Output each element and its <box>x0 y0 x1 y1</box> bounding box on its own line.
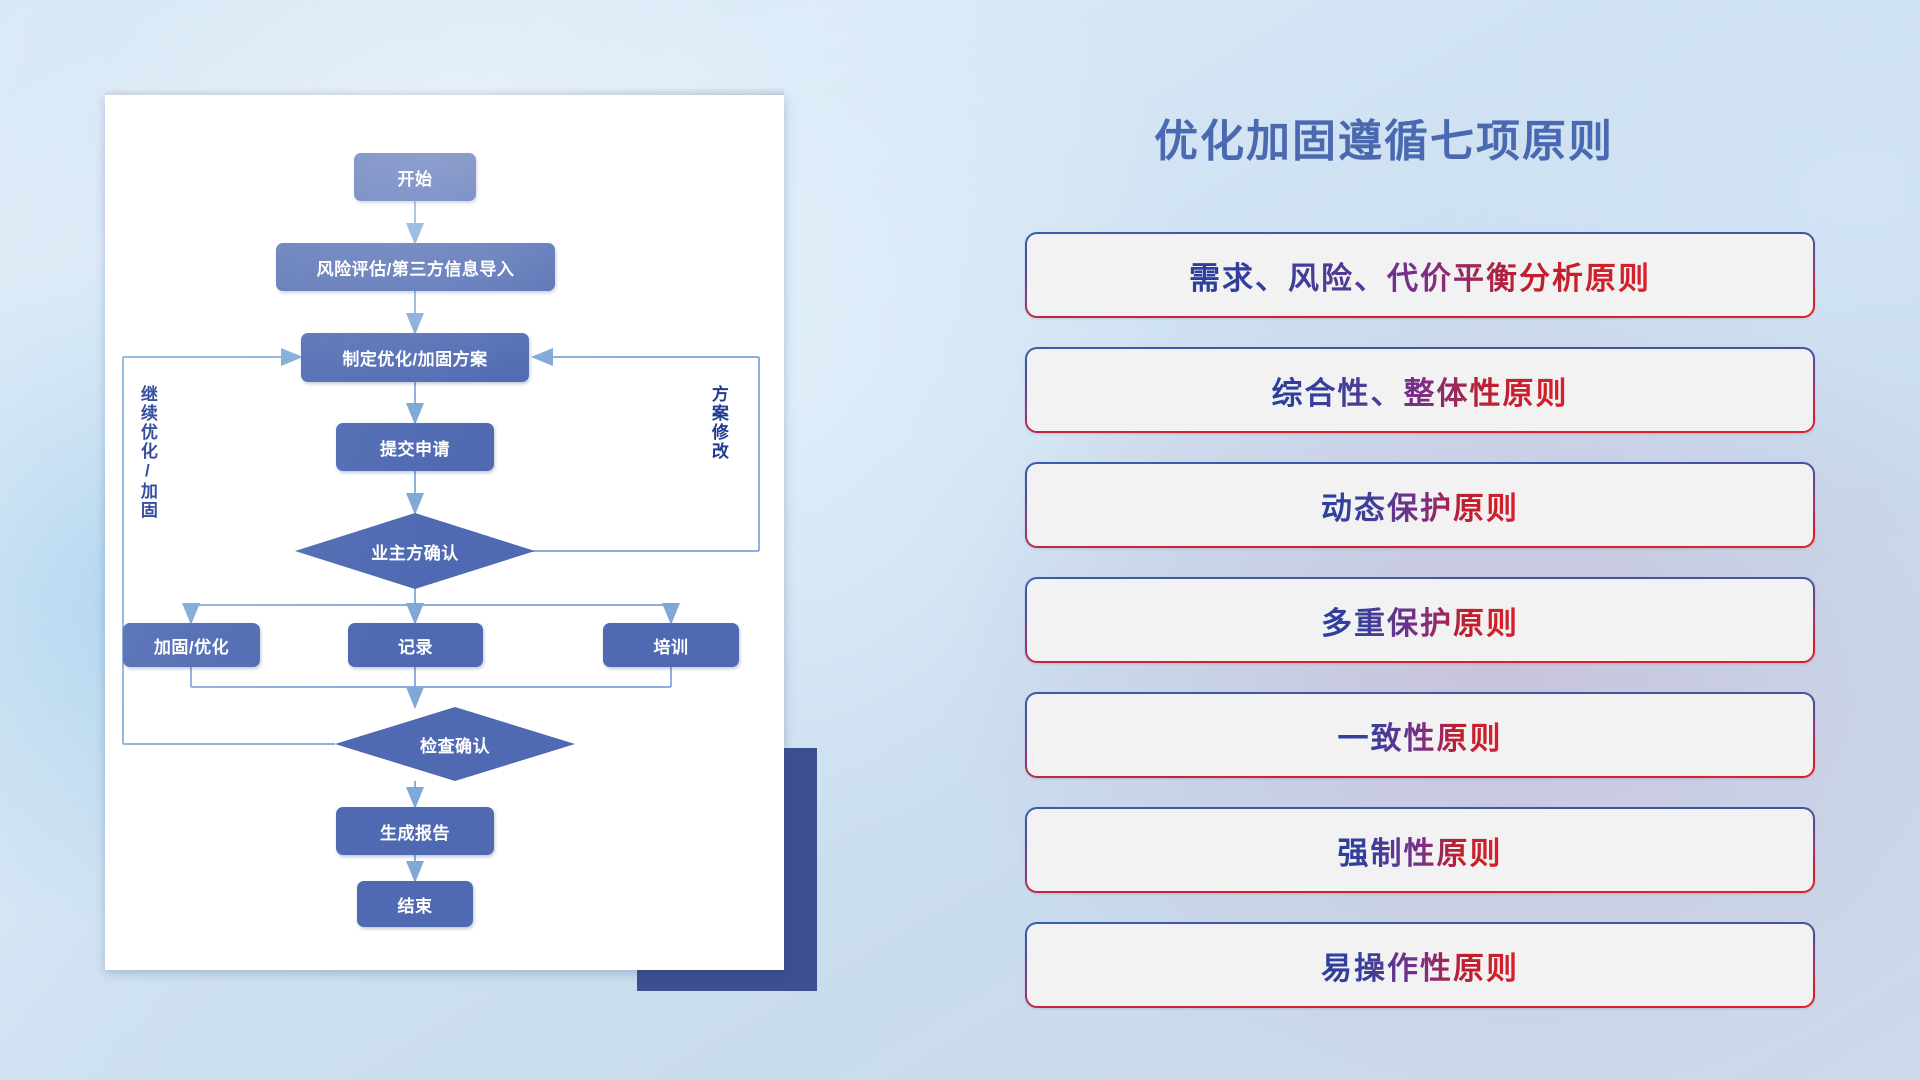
principle-label: 易操作性原则 <box>1321 943 1519 988</box>
flow-node-label: 业主方确认 <box>371 539 459 564</box>
principle-item[interactable]: 易操作性原则 <box>1025 922 1815 1008</box>
flow-node-label: 结束 <box>398 892 433 917</box>
flowchart-card: 开始 风险评估/第三方信息导入 制定优化/加固方案 提交申请 业主方确认 加固/… <box>105 95 784 970</box>
principle-item[interactable]: 一致性原则 <box>1025 692 1815 778</box>
flow-node-start: 开始 <box>354 153 476 201</box>
flow-node-label: 提交申请 <box>380 435 450 460</box>
flow-node-label: 记录 <box>398 633 433 658</box>
flow-node-training: 培训 <box>603 623 739 667</box>
principle-label: 多重保护原则 <box>1321 598 1519 643</box>
principle-label: 需求、风险、代价平衡分析原则 <box>1189 253 1651 298</box>
flow-node-check-confirm: 检查确认 <box>335 707 575 781</box>
card-top-edge <box>105 87 784 95</box>
flow-node-record: 记录 <box>348 623 483 667</box>
principle-item[interactable]: 多重保护原则 <box>1025 577 1815 663</box>
flow-node-label: 制定优化/加固方案 <box>342 345 487 370</box>
page-title: 优化加固遵循七项原则 <box>1154 105 1614 169</box>
flow-node-label: 检查确认 <box>420 732 490 757</box>
flow-node-label: 生成报告 <box>380 819 450 844</box>
edge-label-continue-optimize: 继续优化/加固 <box>138 385 156 520</box>
flow-node-label: 培训 <box>654 633 689 658</box>
slide-canvas: 开始 风险评估/第三方信息导入 制定优化/加固方案 提交申请 业主方确认 加固/… <box>0 0 1920 1080</box>
flow-node-end: 结束 <box>357 881 473 927</box>
principles-list: 需求、风险、代价平衡分析原则 综合性、整体性原则 动态保护原则 多重保护原则 一… <box>1025 232 1815 1037</box>
flow-node-reinforce: 加固/优化 <box>123 623 260 667</box>
flow-node-label: 开始 <box>398 165 433 190</box>
principle-item[interactable]: 需求、风险、代价平衡分析原则 <box>1025 232 1815 318</box>
flow-node-owner-confirm: 业主方确认 <box>295 513 535 589</box>
principle-item[interactable]: 强制性原则 <box>1025 807 1815 893</box>
flow-node-label: 风险评估/第三方信息导入 <box>317 255 515 280</box>
flow-node-risk-assessment: 风险评估/第三方信息导入 <box>276 243 555 291</box>
edge-label-plan-revision: 方案修改 <box>709 385 727 461</box>
principle-label: 强制性原则 <box>1338 828 1503 873</box>
flow-node-plan: 制定优化/加固方案 <box>301 333 529 382</box>
flow-node-submit-application: 提交申请 <box>336 423 494 471</box>
principle-label: 一致性原则 <box>1338 713 1503 758</box>
principle-item[interactable]: 综合性、整体性原则 <box>1025 347 1815 433</box>
flow-node-generate-report: 生成报告 <box>336 807 494 855</box>
flow-node-label: 加固/优化 <box>154 633 229 658</box>
principle-item[interactable]: 动态保护原则 <box>1025 462 1815 548</box>
principle-label: 动态保护原则 <box>1321 483 1519 528</box>
flowchart-canvas: 开始 风险评估/第三方信息导入 制定优化/加固方案 提交申请 业主方确认 加固/… <box>105 95 784 970</box>
principle-label: 综合性、整体性原则 <box>1272 368 1569 413</box>
